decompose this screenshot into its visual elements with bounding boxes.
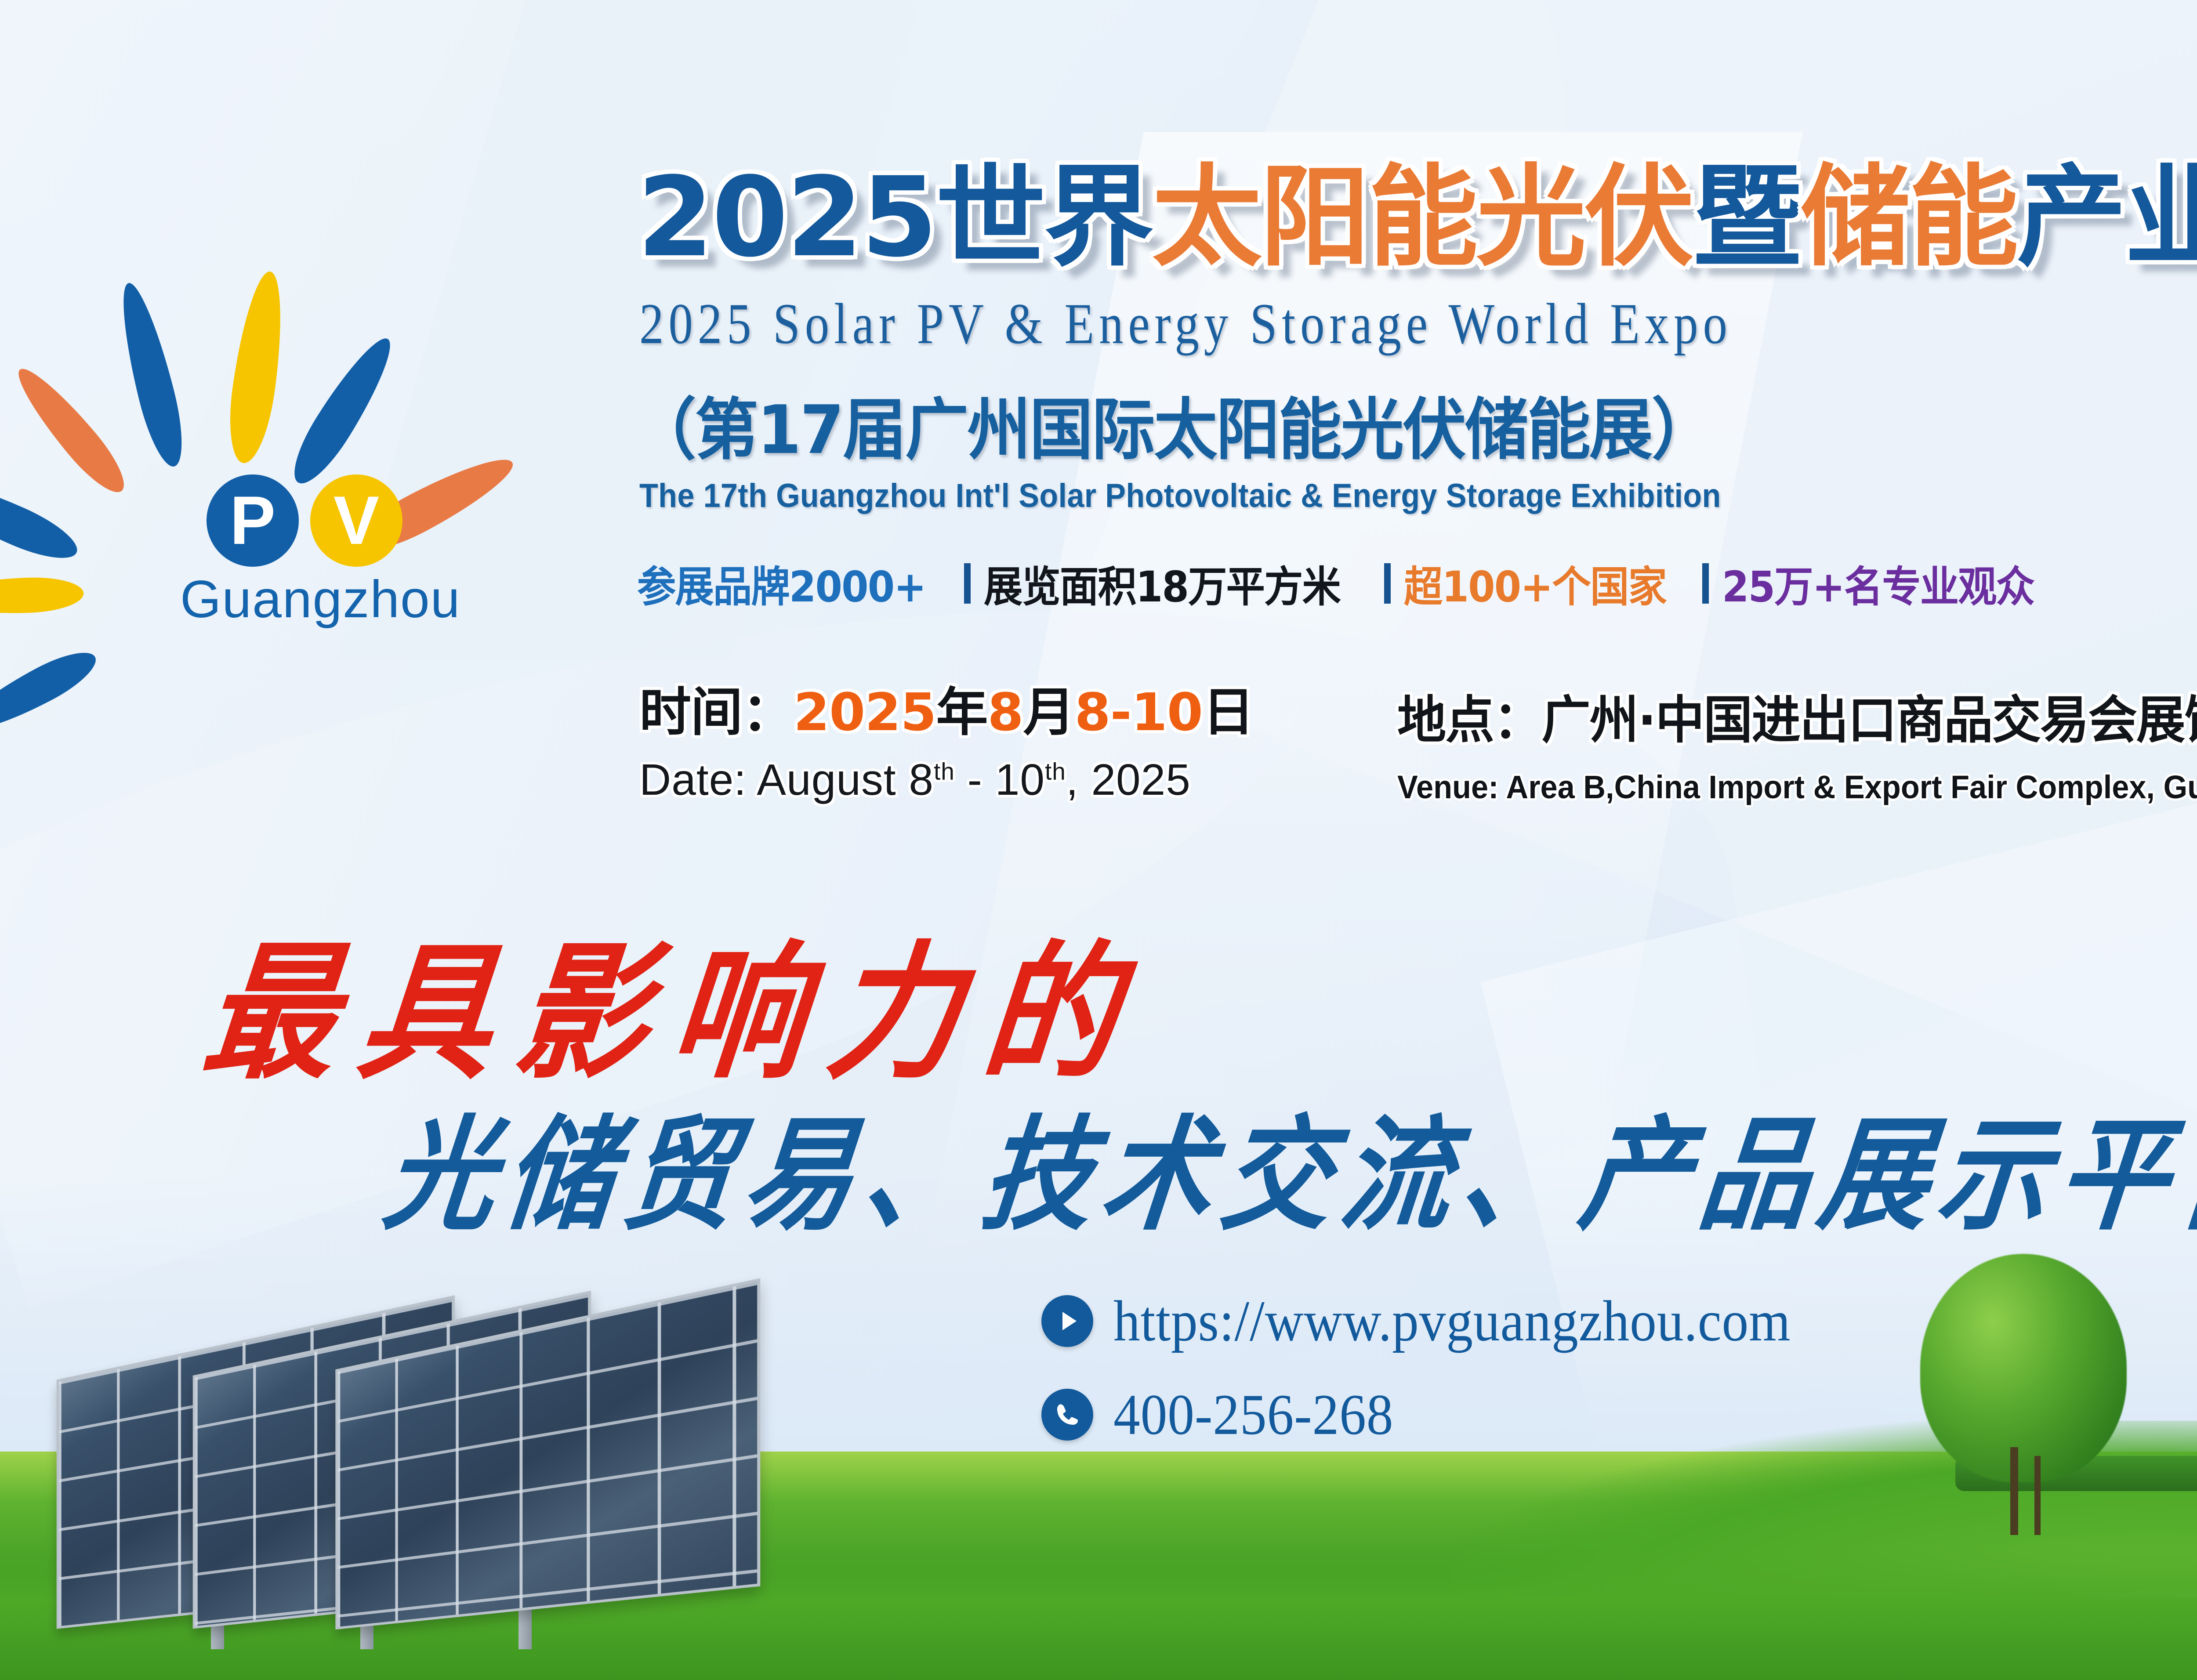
date-days: 8-10 <box>1075 682 1203 742</box>
phone-number[interactable]: 400-256-268 <box>1113 1381 1393 1448</box>
logo-petal-1 <box>111 279 192 471</box>
logo-pv-letters: P V <box>207 474 402 567</box>
play-arrow-icon <box>1041 1295 1093 1347</box>
title-english: 2025 Solar PV & Energy Storage World Exp… <box>639 290 1732 357</box>
logo-wordmark: Guangzhou <box>180 569 461 630</box>
date-year-unit: 年 <box>936 682 987 742</box>
stat-item-2: 超100+个国家 <box>1404 553 1666 614</box>
tree-left <box>1903 1254 2149 1535</box>
contact-block: https://www.pvguangzhou.com 400-256-268 <box>1041 1287 1850 1474</box>
date-english: Date: August 8th - 10th, 2025 <box>639 755 1254 805</box>
title-segment-2: 暨 <box>1693 153 1801 281</box>
title-segment-3: 储能 <box>1801 153 2017 281</box>
title-english-subtitle: The 17th Guangzhou Int'l Solar Photovolt… <box>639 477 1721 515</box>
title-segment-0: 2025世界 <box>637 153 1152 281</box>
title-segment-1: 太阳能光伏 <box>1152 153 1693 281</box>
venue-chinese: 地点：广州·中国进出口商品交易会展馆B区 <box>1397 679 2197 753</box>
stat-item-0: 参展品牌2000+ <box>637 553 926 614</box>
date-block: 时间：2025年8月8-10日 Date: August 8th - 10th,… <box>639 670 1254 805</box>
date-month-unit: 月 <box>1023 682 1075 742</box>
solar-panel-array <box>26 1315 993 1649</box>
stat-separator <box>1702 563 1709 604</box>
date-label: 时间： <box>639 682 794 742</box>
page-title: 2025世界太阳能光伏暨储能产业博览会 <box>637 163 2197 272</box>
stat-item-3: 25万+名专业观众 <box>1722 553 2034 614</box>
venue-english: Venue: Area B,China Import & Export Fair… <box>1397 768 2197 806</box>
stat-separator <box>1384 563 1391 604</box>
logo-petal-0 <box>7 358 135 502</box>
poster-banner: P V Guangzhou 2025世界太阳能光伏暨储能产业博览会 2025 S… <box>0 0 2197 1680</box>
stat-separator <box>964 563 971 604</box>
phone-icon <box>1041 1389 1093 1441</box>
date-month: 8 <box>987 682 1023 742</box>
logo-letter-p: P <box>207 474 299 567</box>
website-row[interactable]: https://www.pvguangzhou.com <box>1041 1287 1850 1354</box>
date-day-unit: 日 <box>1203 682 1254 742</box>
venue-block: 地点：广州·中国进出口商品交易会展馆B区 Venue: Area B,China… <box>1397 679 2197 806</box>
logo-petal-3 <box>282 329 404 492</box>
logo-petal-7 <box>0 641 103 742</box>
date-year: 2025 <box>794 682 936 742</box>
logo-petal-2 <box>222 268 291 466</box>
pv-guangzhou-logo: P V Guangzhou <box>53 171 571 628</box>
title-segment-4: 产业博览会 <box>2017 153 2197 281</box>
phone-row[interactable]: 400-256-268 <box>1041 1381 1850 1448</box>
logo-letter-v: V <box>310 474 402 567</box>
logo-petal-6 <box>0 576 84 616</box>
title-chinese-subtitle: （第17届广州国际太阳能光伏储能展） <box>633 376 1714 472</box>
logo-petal-5 <box>0 465 84 570</box>
stats-row: 参展品牌2000+展览面积18万平方米超100+个国家25万+名专业观众 <box>637 553 2061 614</box>
website-link[interactable]: https://www.pvguangzhou.com <box>1113 1287 1791 1354</box>
stat-item-1: 展览面积18万平方米 <box>984 553 1340 614</box>
slogan-line-2: 光储贸易、技术交流、产品展示平台！ <box>377 1075 2197 1253</box>
date-chinese: 时间：2025年8月8-10日 <box>639 670 1254 745</box>
slogan-line-1: 最具影响力的 <box>195 894 1153 1107</box>
